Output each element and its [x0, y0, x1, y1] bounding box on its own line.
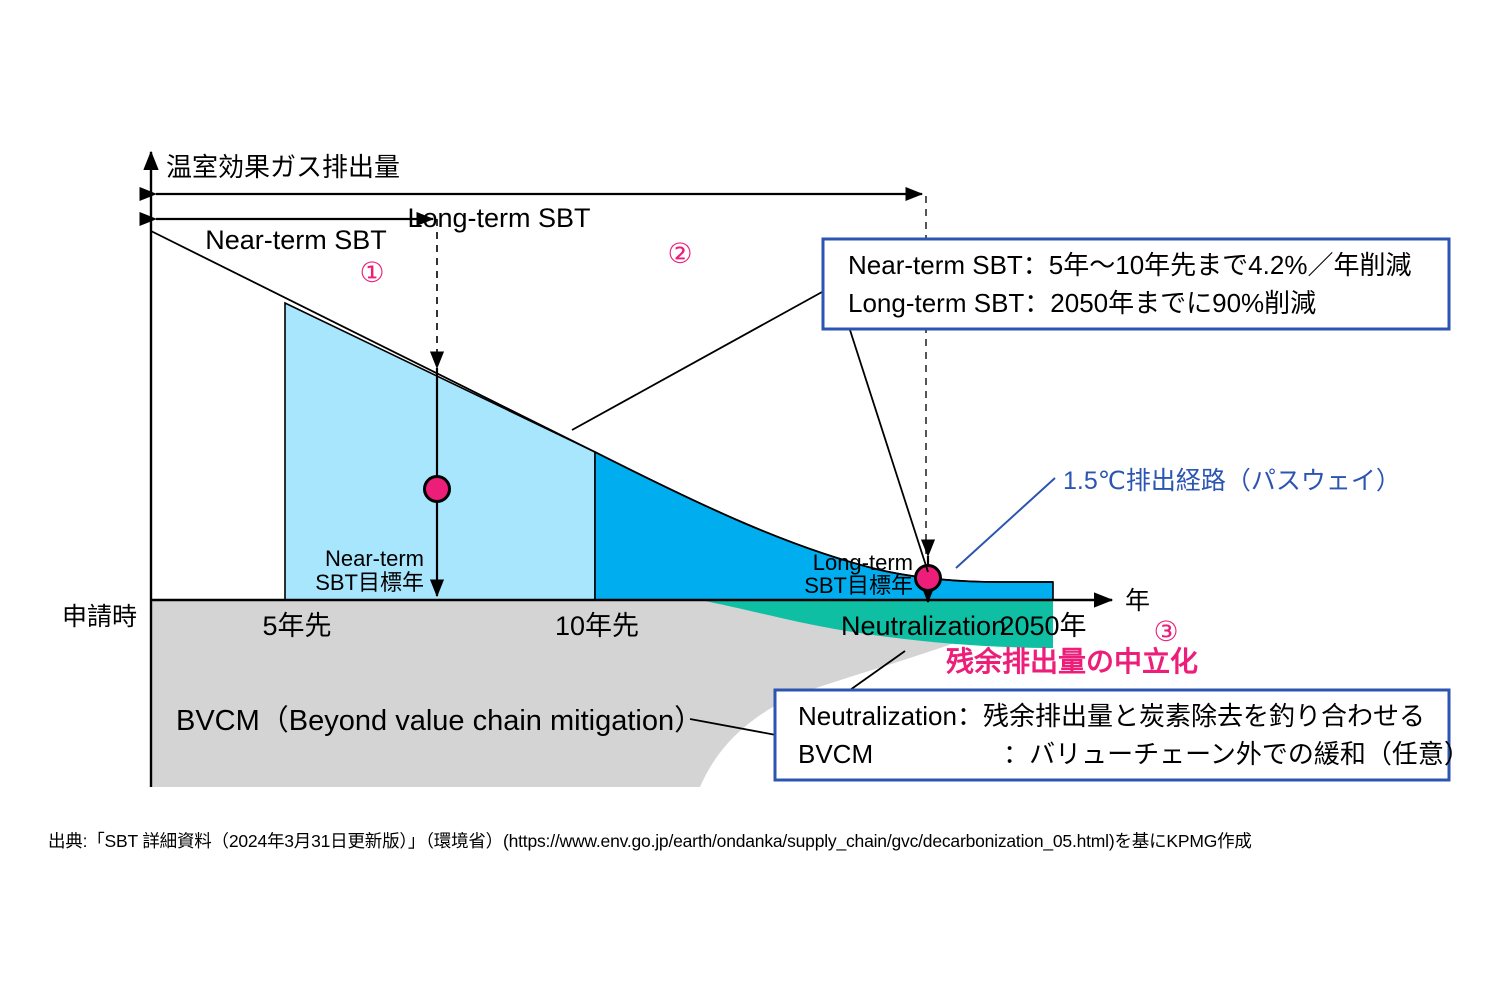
bvcm-area-label: BVCM（Beyond value chain mitigation） — [176, 705, 703, 737]
near-term-sbt-span-label: Near-term SBT — [205, 225, 387, 255]
long-term-sbt-marker: ② — [667, 238, 692, 269]
neutralization-bvcm-callout-line2: BVCM ：バリューチェーン外での緩和（任意） — [798, 739, 1470, 769]
neutralization-area-label: Neutralization — [841, 611, 1006, 641]
near-term-sbt-marker: ① — [359, 257, 384, 288]
sbt-targets-callout-line2: Long-term SBT：2050年までに90%削減 — [848, 288, 1316, 318]
x-axis-label: 年 — [1125, 587, 1150, 615]
y-axis-label: 温室効果ガス排出量 — [166, 152, 400, 182]
near-term-target-year-label-line1: Near-term — [325, 546, 424, 571]
long-term-target-year-label-line1: Long-term — [813, 550, 913, 575]
sbt-targets-callout: Near-term SBT：5年〜10年先まで4.2%／年削減 Long-ter… — [823, 239, 1449, 329]
long-term-sbt-span-label: Long-term SBT — [407, 203, 590, 233]
neutralization-callout-marker: ③ — [1153, 616, 1178, 647]
sbt-targets-callout-line1: Near-term SBT：5年〜10年先まで4.2%／年削減 — [848, 250, 1411, 280]
x-tick-5-years: 5年先 — [262, 611, 331, 641]
source-note: 出典:「SBT 詳細資料（2024年3月31日更新版）」（環境省）(https:… — [48, 828, 1252, 853]
pathway-leader-line — [956, 478, 1055, 568]
near-term-target-point — [425, 477, 450, 502]
x-tick-10-years: 10年先 — [555, 611, 639, 641]
x-tick-2050: 2050年 — [999, 611, 1086, 641]
neutralization-callout-label: 残余排出量の中立化 — [946, 645, 1198, 677]
neutralization-bvcm-callout: Neutralization：残余排出量と炭素除去を釣り合わせる BVCM ：バ… — [775, 690, 1470, 780]
pathway-label: 1.5℃排出経路（パスウェイ） — [1063, 467, 1401, 495]
neutralization-bvcm-callout-line1: Neutralization：残余排出量と炭素除去を釣り合わせる — [798, 701, 1425, 731]
origin-label: 申請時 — [62, 603, 137, 631]
near-term-target-year-label-line2: SBT目標年 — [315, 570, 424, 595]
long-term-target-year-label-line2: SBT目標年 — [804, 573, 913, 598]
